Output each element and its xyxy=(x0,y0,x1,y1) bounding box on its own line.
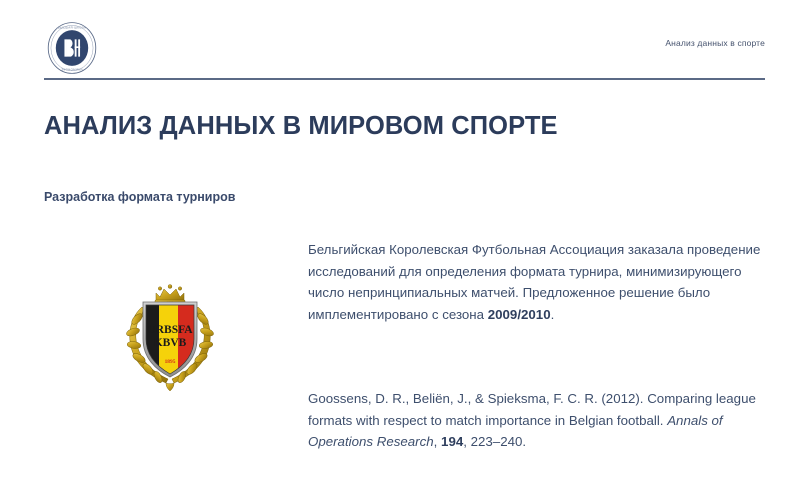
crest-year-text: 1895 xyxy=(165,359,176,365)
svg-text:·ЭКОНОМИКИ·: ·ЭКОНОМИКИ· xyxy=(60,68,84,72)
slide-header: ·ВЫСШАЯ·ШКОЛА· ·ЭКОНОМИКИ· Анализ данных… xyxy=(0,0,800,86)
presentation-slide: ·ВЫСШАЯ·ШКОЛА· ·ЭКОНОМИКИ· Анализ данных… xyxy=(0,0,800,500)
paragraph-text-tail: . xyxy=(551,307,555,322)
reference-citation: Goossens, D. R., Beliën, J., & Spieksma,… xyxy=(308,388,778,452)
body-paragraph: Бельгийская Королевская Футбольная Ассоц… xyxy=(308,239,768,325)
svg-text:·ВЫСШАЯ·ШКОЛА·: ·ВЫСШАЯ·ШКОЛА· xyxy=(56,26,87,30)
crest-line2-text: KBVB xyxy=(154,337,187,349)
crest-line1-text: URBSFA xyxy=(147,324,193,336)
citation-separator: , xyxy=(434,434,441,449)
page-title: АНАЛИЗ ДАННЫХ В МИРОВОМ СПОРТЕ xyxy=(44,111,558,142)
page-subtitle: Разработка формата турниров xyxy=(44,189,235,206)
header-caption: Анализ данных в спорте xyxy=(465,37,765,49)
citation-volume: 194 xyxy=(441,434,463,449)
paragraph-season-highlight: 2009/2010 xyxy=(488,307,551,322)
citation-authors-year: Goossens, D. R., Beliën, J., & Spieksma,… xyxy=(308,391,647,406)
header-divider-rule xyxy=(44,78,765,80)
belgian-football-association-crest-icon: 1895 URBSFA KBVB 1895 xyxy=(122,279,218,391)
citation-pages: , 223–240. xyxy=(463,434,526,449)
hse-oval-seal-logo-icon: ·ВЫСШАЯ·ШКОЛА· ·ЭКОНОМИКИ· xyxy=(45,21,99,75)
